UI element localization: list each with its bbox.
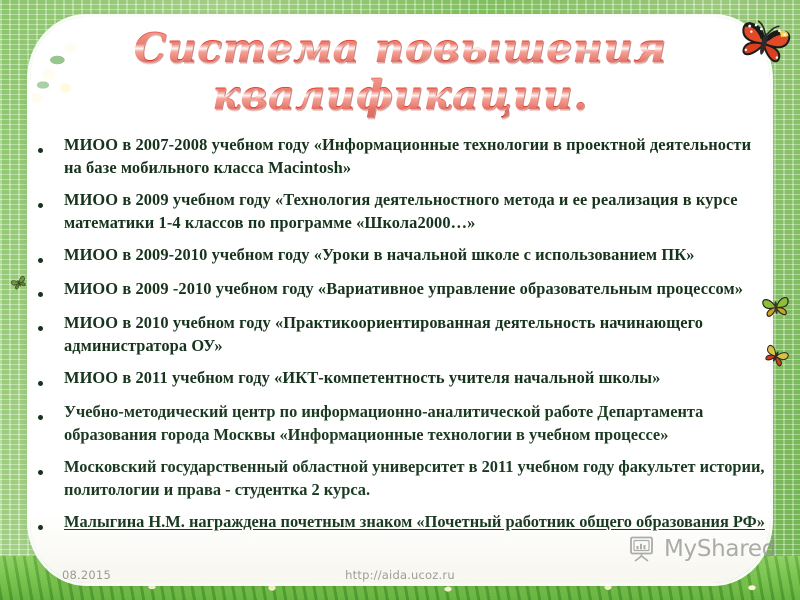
list-item-label: МИОО в 2011 учебном году «ИКТ-компетентн… <box>64 366 768 389</box>
bullet-dot-icon <box>38 188 64 213</box>
list-item-label: Московский государственный областной уни… <box>64 455 768 501</box>
bullet-dot-icon <box>38 510 64 535</box>
list-item-label: Малыгина Н.М. награждена почетным знаком… <box>64 510 768 533</box>
bullet-dot-icon <box>38 243 64 268</box>
list-item-label: МИОО в 2009-2010 учебном году «Уроки в н… <box>64 243 768 266</box>
list-item: МИОО в 2011 учебном году «ИКТ-компетентн… <box>38 366 768 391</box>
list-item: Учебно-методический центр по информацион… <box>38 400 768 446</box>
list-item: Московский государственный областной уни… <box>38 455 768 501</box>
butterfly-icon <box>757 290 794 323</box>
myshared-branding: MyShared <box>627 534 776 564</box>
bullet-dot-icon <box>38 366 64 391</box>
list-item-label: МИОО в 2007-2008 учебном году «Информаци… <box>64 133 768 179</box>
list-item-label: Учебно-методический центр по информацион… <box>64 400 768 446</box>
bullet-dot-icon <box>38 311 64 336</box>
bullet-dot-icon <box>38 277 64 302</box>
list-item-label: МИОО в 2009 -2010 учебном году «Вариатив… <box>64 277 768 300</box>
butterfly-icon <box>7 272 31 295</box>
page-title-line-2: квалификации. <box>212 72 587 119</box>
bullet-dot-icon <box>38 400 64 425</box>
bullet-dot-icon <box>38 133 64 158</box>
page-title: Система повышения квалификации. <box>30 17 770 121</box>
slide-canvas: Система повышения квалификации. МИОО в 2… <box>0 0 800 600</box>
list-item: МИОО в 2009 учебном году «Технология дея… <box>38 188 768 234</box>
myshared-label: MyShared <box>664 536 776 562</box>
list-item-label: МИОО в 2010 учебном году «Практикоориент… <box>64 311 768 357</box>
list-item: МИОО в 2010 учебном году «Практикоориент… <box>38 311 768 357</box>
footer-url: http://aida.ucoz.ru <box>0 568 800 582</box>
list-item-label: МИОО в 2009 учебном году «Технология дея… <box>64 188 768 234</box>
bullet-dot-icon <box>38 455 64 480</box>
list-item: МИОО в 2009 -2010 учебном году «Вариатив… <box>38 277 768 302</box>
list-item: МИОО в 2009-2010 учебном году «Уроки в н… <box>38 243 768 268</box>
page-title-line-1: Система повышения <box>134 25 667 72</box>
list-item: Малыгина Н.М. награждена почетным знаком… <box>38 510 768 535</box>
bullet-list: МИОО в 2007-2008 учебном году «Информаци… <box>38 133 768 544</box>
presentation-chart-icon <box>627 534 657 564</box>
list-item: МИОО в 2007-2008 учебном году «Информаци… <box>38 133 768 179</box>
